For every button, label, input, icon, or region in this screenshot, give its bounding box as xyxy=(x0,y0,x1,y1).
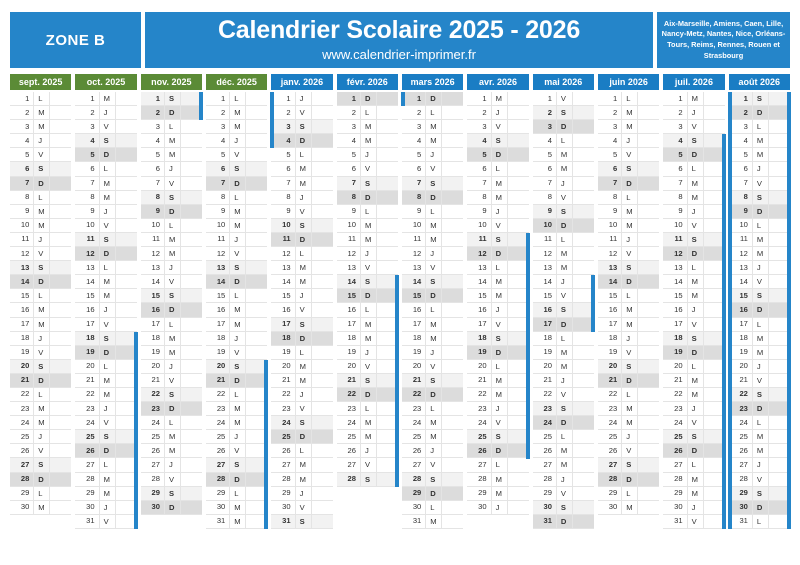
day-note-cell[interactable] xyxy=(572,162,594,175)
day-row[interactable]: 24M xyxy=(402,416,463,430)
day-row[interactable]: 24M xyxy=(337,416,398,430)
day-row[interactable]: 13M xyxy=(271,261,332,275)
day-row[interactable]: 21V xyxy=(141,374,202,388)
day-row[interactable]: 16J xyxy=(663,303,724,317)
day-note-cell[interactable] xyxy=(245,205,267,218)
day-row[interactable]: 10V xyxy=(75,219,136,233)
day-row[interactable]: 15L xyxy=(598,289,659,303)
day-row[interactable]: 10D xyxy=(533,219,594,233)
day-row[interactable]: 12M xyxy=(141,247,202,261)
day-row[interactable]: 5D xyxy=(467,148,528,162)
day-row[interactable]: 24M xyxy=(206,416,267,430)
day-note-cell[interactable] xyxy=(441,92,463,105)
day-note-cell[interactable] xyxy=(311,444,333,457)
day-row[interactable]: 14M xyxy=(663,275,724,289)
day-row[interactable]: 25D xyxy=(271,430,332,444)
day-row[interactable]: 11S xyxy=(663,233,724,247)
day-note-cell[interactable] xyxy=(441,247,463,260)
day-row[interactable]: 28S xyxy=(402,473,463,487)
day-row[interactable]: 31S xyxy=(271,515,332,529)
day-row[interactable]: 4M xyxy=(141,134,202,148)
day-row[interactable]: 24V xyxy=(467,416,528,430)
day-row[interactable]: 19V xyxy=(206,346,267,360)
day-note-cell[interactable] xyxy=(507,148,529,161)
day-row[interactable]: 2J xyxy=(663,106,724,120)
day-note-cell[interactable] xyxy=(507,106,529,119)
day-row[interactable]: 7M xyxy=(467,177,528,191)
day-note-cell[interactable] xyxy=(49,501,71,514)
day-row[interactable]: 3M xyxy=(402,120,463,134)
day-note-cell[interactable] xyxy=(311,233,333,246)
day-row[interactable]: 25L xyxy=(533,430,594,444)
day-note-cell[interactable] xyxy=(441,303,463,316)
day-row[interactable]: 12L xyxy=(271,247,332,261)
day-note-cell[interactable] xyxy=(572,332,594,345)
day-row[interactable]: 22J xyxy=(271,388,332,402)
day-row[interactable]: 8J xyxy=(271,191,332,205)
day-row[interactable]: 3V xyxy=(467,120,528,134)
day-row[interactable]: 2L xyxy=(402,106,463,120)
day-row[interactable]: 31V xyxy=(75,515,136,529)
day-note-cell[interactable] xyxy=(637,289,659,302)
day-row[interactable]: 2M xyxy=(206,106,267,120)
day-row[interactable]: 6L xyxy=(75,162,136,176)
day-row[interactable]: 22M xyxy=(75,388,136,402)
day-row[interactable]: 1S xyxy=(141,92,202,106)
day-row[interactable]: 26D xyxy=(663,444,724,458)
day-row[interactable]: 24V xyxy=(663,416,724,430)
day-row[interactable]: 14V xyxy=(729,275,790,289)
day-note-cell[interactable] xyxy=(637,374,659,387)
month-header[interactable]: avr. 2026 xyxy=(467,74,528,90)
day-note-cell[interactable] xyxy=(637,92,659,105)
day-row[interactable]: 3D xyxy=(533,120,594,134)
day-row[interactable]: 30M xyxy=(10,501,71,515)
month-header[interactable]: août 2026 xyxy=(729,74,790,90)
day-note-cell[interactable] xyxy=(49,416,71,429)
day-row[interactable]: 28J xyxy=(533,473,594,487)
day-note-cell[interactable] xyxy=(376,191,398,204)
day-row[interactable]: 7V xyxy=(729,177,790,191)
day-note-cell[interactable] xyxy=(115,247,137,260)
day-row[interactable]: 30J xyxy=(75,501,136,515)
day-note-cell[interactable] xyxy=(507,120,529,133)
day-row[interactable]: 23J xyxy=(467,402,528,416)
day-row[interactable]: 24L xyxy=(141,416,202,430)
day-note-cell[interactable] xyxy=(572,487,594,500)
day-row[interactable]: 17M xyxy=(10,318,71,332)
day-note-cell[interactable] xyxy=(49,303,71,316)
month-header[interactable]: déc. 2025 xyxy=(206,74,267,90)
day-row[interactable]: 25M xyxy=(337,430,398,444)
month-header[interactable]: juin 2026 xyxy=(598,74,659,90)
day-note-cell[interactable] xyxy=(507,162,529,175)
day-note-cell[interactable] xyxy=(180,444,202,457)
day-row[interactable]: 5M xyxy=(729,148,790,162)
day-row[interactable]: 14D xyxy=(598,275,659,289)
day-note-cell[interactable] xyxy=(441,360,463,373)
day-row[interactable]: 18S xyxy=(663,332,724,346)
day-row[interactable]: 25S xyxy=(75,430,136,444)
day-row[interactable]: 11S xyxy=(467,233,528,247)
day-note-cell[interactable] xyxy=(311,205,333,218)
day-row[interactable]: 26V xyxy=(10,444,71,458)
day-note-cell[interactable] xyxy=(49,289,71,302)
day-row[interactable]: 14D xyxy=(10,275,71,289)
day-row[interactable]: 31M xyxy=(402,515,463,529)
day-note-cell[interactable] xyxy=(245,303,267,316)
day-note-cell[interactable] xyxy=(572,346,594,359)
day-row[interactable]: 11M xyxy=(141,233,202,247)
day-note-cell[interactable] xyxy=(180,473,202,486)
day-row[interactable]: 22M xyxy=(663,388,724,402)
day-note-cell[interactable] xyxy=(115,318,137,331)
day-row[interactable]: 16S xyxy=(533,303,594,317)
day-row[interactable]: 9M xyxy=(598,205,659,219)
day-row[interactable]: 4M xyxy=(402,134,463,148)
day-note-cell[interactable] xyxy=(49,120,71,133)
day-note-cell[interactable] xyxy=(49,106,71,119)
day-note-cell[interactable] xyxy=(376,92,398,105)
day-row[interactable]: 11M xyxy=(337,233,398,247)
day-note-cell[interactable] xyxy=(311,332,333,345)
day-note-cell[interactable] xyxy=(180,289,202,302)
day-row[interactable]: 4L xyxy=(533,134,594,148)
day-row[interactable]: 5D xyxy=(75,148,136,162)
day-row[interactable]: 16D xyxy=(729,303,790,317)
day-row[interactable]: 20V xyxy=(402,360,463,374)
day-note-cell[interactable] xyxy=(441,205,463,218)
day-note-cell[interactable] xyxy=(441,261,463,274)
day-row[interactable]: 13V xyxy=(337,261,398,275)
day-note-cell[interactable] xyxy=(49,458,71,471)
day-note-cell[interactable] xyxy=(572,360,594,373)
day-row[interactable]: 13J xyxy=(729,261,790,275)
day-row[interactable]: 1L xyxy=(206,92,267,106)
day-note-cell[interactable] xyxy=(115,162,137,175)
day-note-cell[interactable] xyxy=(49,92,71,105)
day-row[interactable]: 25J xyxy=(10,430,71,444)
day-row[interactable]: 1D xyxy=(402,92,463,106)
day-row[interactable]: 4M xyxy=(337,134,398,148)
day-row[interactable]: 30J xyxy=(663,501,724,515)
month-header[interactable]: mai 2026 xyxy=(533,74,594,90)
day-row[interactable]: 22L xyxy=(10,388,71,402)
day-note-cell[interactable] xyxy=(572,515,594,528)
day-row[interactable]: 17M xyxy=(206,318,267,332)
day-row[interactable]: 29L xyxy=(10,487,71,501)
day-note-cell[interactable] xyxy=(49,473,71,486)
day-row[interactable]: 11J xyxy=(206,233,267,247)
day-row[interactable]: 28M xyxy=(467,473,528,487)
day-row[interactable]: 8L xyxy=(206,191,267,205)
day-note-cell[interactable] xyxy=(311,289,333,302)
day-row[interactable]: 4J xyxy=(10,134,71,148)
day-row[interactable]: 13S xyxy=(598,261,659,275)
day-row[interactable]: 9L xyxy=(402,205,463,219)
day-row[interactable]: 10L xyxy=(141,219,202,233)
day-row[interactable]: 14D xyxy=(206,275,267,289)
day-note-cell[interactable] xyxy=(441,346,463,359)
day-note-cell[interactable] xyxy=(637,177,659,190)
day-note-cell[interactable] xyxy=(245,177,267,190)
day-row[interactable]: 16M xyxy=(598,303,659,317)
day-row[interactable]: 24D xyxy=(533,416,594,430)
day-note-cell[interactable] xyxy=(49,247,71,260)
day-note-cell[interactable] xyxy=(180,205,202,218)
day-note-cell[interactable] xyxy=(245,275,267,288)
day-note-cell[interactable] xyxy=(376,261,398,274)
day-row[interactable]: 21M xyxy=(467,374,528,388)
day-row[interactable]: 24L xyxy=(729,416,790,430)
day-row[interactable]: 29M xyxy=(663,487,724,501)
day-row[interactable]: 11S xyxy=(75,233,136,247)
day-row[interactable]: 8M xyxy=(467,191,528,205)
day-note-cell[interactable] xyxy=(637,473,659,486)
day-note-cell[interactable] xyxy=(49,430,71,443)
day-row[interactable]: 19D xyxy=(467,346,528,360)
month-header[interactable]: sept. 2025 xyxy=(10,74,71,90)
day-row[interactable]: 6S xyxy=(10,162,71,176)
day-note-cell[interactable] xyxy=(245,261,267,274)
day-row[interactable]: 7M xyxy=(663,177,724,191)
day-note-cell[interactable] xyxy=(441,191,463,204)
day-note-cell[interactable] xyxy=(637,402,659,415)
day-row[interactable]: 22M xyxy=(467,388,528,402)
day-row[interactable]: 21S xyxy=(402,374,463,388)
day-row[interactable]: 20V xyxy=(337,360,398,374)
day-note-cell[interactable] xyxy=(441,402,463,415)
day-row[interactable]: 1S xyxy=(729,92,790,106)
day-row[interactable]: 16J xyxy=(75,303,136,317)
day-row[interactable]: 3M xyxy=(10,120,71,134)
day-row[interactable]: 14M xyxy=(467,275,528,289)
day-row[interactable]: 7S xyxy=(402,177,463,191)
day-row[interactable]: 29S xyxy=(141,487,202,501)
day-note-cell[interactable] xyxy=(311,134,333,147)
day-row[interactable]: 12D xyxy=(467,247,528,261)
day-row[interactable]: 23V xyxy=(271,402,332,416)
day-row[interactable]: 27L xyxy=(663,458,724,472)
day-row[interactable]: 15L xyxy=(10,289,71,303)
day-note-cell[interactable] xyxy=(115,92,137,105)
day-row[interactable]: 15M xyxy=(467,289,528,303)
day-row[interactable]: 14V xyxy=(141,275,202,289)
day-row[interactable]: 22D xyxy=(402,388,463,402)
day-row[interactable]: 11M xyxy=(402,233,463,247)
day-note-cell[interactable] xyxy=(311,162,333,175)
day-row[interactable]: 29D xyxy=(402,487,463,501)
day-row[interactable]: 12V xyxy=(598,247,659,261)
day-row[interactable]: 13S xyxy=(206,261,267,275)
day-note-cell[interactable] xyxy=(637,501,659,514)
day-row[interactable]: 1M xyxy=(663,92,724,106)
day-row[interactable]: 25M xyxy=(402,430,463,444)
day-row[interactable]: 30D xyxy=(141,501,202,515)
day-row[interactable]: 18M xyxy=(402,332,463,346)
day-row[interactable]: 3L xyxy=(729,120,790,134)
month-header[interactable]: oct. 2025 xyxy=(75,74,136,90)
day-row[interactable]: 22S xyxy=(729,388,790,402)
day-row[interactable]: 30V xyxy=(271,501,332,515)
day-row[interactable]: 7D xyxy=(10,177,71,191)
day-row[interactable]: 22V xyxy=(533,388,594,402)
day-row[interactable]: 2J xyxy=(75,106,136,120)
day-note-cell[interactable] xyxy=(49,360,71,373)
day-row[interactable]: 10M xyxy=(402,219,463,233)
day-note-cell[interactable] xyxy=(572,233,594,246)
day-row[interactable]: 20M xyxy=(271,360,332,374)
day-row[interactable]: 17M xyxy=(598,318,659,332)
day-note-cell[interactable] xyxy=(245,92,267,105)
day-row[interactable]: 12J xyxy=(337,247,398,261)
day-note-cell[interactable] xyxy=(115,289,137,302)
day-note-cell[interactable] xyxy=(637,134,659,147)
day-note-cell[interactable] xyxy=(115,303,137,316)
day-row[interactable]: 1L xyxy=(598,92,659,106)
day-row[interactable]: 30M xyxy=(206,501,267,515)
day-note-cell[interactable] xyxy=(49,134,71,147)
day-row[interactable]: 13L xyxy=(467,261,528,275)
day-row[interactable]: 22L xyxy=(206,388,267,402)
day-row[interactable]: 12V xyxy=(10,247,71,261)
day-row[interactable]: 3V xyxy=(663,120,724,134)
day-row[interactable]: 3L xyxy=(141,120,202,134)
day-note-cell[interactable] xyxy=(245,106,267,119)
day-note-cell[interactable] xyxy=(441,444,463,457)
day-row[interactable]: 15S xyxy=(141,289,202,303)
day-row[interactable]: 23L xyxy=(337,402,398,416)
day-row[interactable]: 26D xyxy=(75,444,136,458)
day-note-cell[interactable] xyxy=(115,191,137,204)
day-row[interactable]: 18S xyxy=(75,332,136,346)
day-note-cell[interactable] xyxy=(441,515,463,528)
day-row[interactable]: 8M xyxy=(663,191,724,205)
day-note-cell[interactable] xyxy=(311,402,333,415)
day-row[interactable]: 21D xyxy=(598,374,659,388)
day-note-cell[interactable] xyxy=(572,444,594,457)
day-note-cell[interactable] xyxy=(507,473,529,486)
day-row[interactable]: 9J xyxy=(663,205,724,219)
day-row[interactable]: 12M xyxy=(729,247,790,261)
day-row[interactable]: 17V xyxy=(467,318,528,332)
day-row[interactable]: 3M xyxy=(337,120,398,134)
day-row[interactable]: 1M xyxy=(75,92,136,106)
day-note-cell[interactable] xyxy=(180,275,202,288)
day-row[interactable]: 15D xyxy=(337,289,398,303)
day-row[interactable]: 9J xyxy=(75,205,136,219)
day-note-cell[interactable] xyxy=(245,346,267,359)
day-note-cell[interactable] xyxy=(49,191,71,204)
day-row[interactable]: 29M xyxy=(467,487,528,501)
day-note-cell[interactable] xyxy=(245,332,267,345)
day-note-cell[interactable] xyxy=(49,162,71,175)
day-row[interactable]: 25J xyxy=(598,430,659,444)
day-note-cell[interactable] xyxy=(507,191,529,204)
day-row[interactable]: 6J xyxy=(141,162,202,176)
day-note-cell[interactable] xyxy=(311,318,333,331)
day-row[interactable]: 2V xyxy=(271,106,332,120)
day-row[interactable]: 18L xyxy=(533,332,594,346)
day-note-cell[interactable] xyxy=(311,247,333,260)
day-row[interactable]: 28V xyxy=(729,473,790,487)
day-row[interactable]: 24M xyxy=(598,416,659,430)
day-note-cell[interactable] xyxy=(311,374,333,387)
day-row[interactable]: 20J xyxy=(729,360,790,374)
day-row[interactable]: 19J xyxy=(402,346,463,360)
day-row[interactable]: 23M xyxy=(206,402,267,416)
day-note-cell[interactable] xyxy=(507,134,529,147)
day-note-cell[interactable] xyxy=(572,261,594,274)
day-row[interactable]: 12D xyxy=(75,247,136,261)
day-note-cell[interactable] xyxy=(115,205,137,218)
day-row[interactable]: 20M xyxy=(533,360,594,374)
day-row[interactable]: 2M xyxy=(598,106,659,120)
day-row[interactable]: 23L xyxy=(402,402,463,416)
day-note-cell[interactable] xyxy=(637,162,659,175)
day-row[interactable]: 8D xyxy=(337,191,398,205)
day-row[interactable]: 30J xyxy=(467,501,528,515)
day-note-cell[interactable] xyxy=(311,275,333,288)
day-note-cell[interactable] xyxy=(49,346,71,359)
day-note-cell[interactable] xyxy=(507,177,529,190)
day-row[interactable]: 17L xyxy=(141,318,202,332)
day-note-cell[interactable] xyxy=(180,177,202,190)
day-note-cell[interactable] xyxy=(180,148,202,161)
day-note-cell[interactable] xyxy=(637,444,659,457)
day-note-cell[interactable] xyxy=(115,233,137,246)
day-row[interactable]: 26L xyxy=(271,444,332,458)
day-note-cell[interactable] xyxy=(572,458,594,471)
day-row[interactable]: 19D xyxy=(663,346,724,360)
day-row[interactable]: 10S xyxy=(271,219,332,233)
day-note-cell[interactable] xyxy=(49,332,71,345)
day-note-cell[interactable] xyxy=(180,346,202,359)
day-note-cell[interactable] xyxy=(245,148,267,161)
day-row[interactable]: 11D xyxy=(271,233,332,247)
day-row[interactable]: 5V xyxy=(598,148,659,162)
day-row[interactable]: 26J xyxy=(402,444,463,458)
day-note-cell[interactable] xyxy=(180,261,202,274)
day-row[interactable]: 29L xyxy=(598,487,659,501)
day-row[interactable]: 13M xyxy=(533,261,594,275)
day-note-cell[interactable] xyxy=(637,346,659,359)
day-note-cell[interactable] xyxy=(572,92,594,105)
day-row[interactable]: 8S xyxy=(729,191,790,205)
day-row[interactable]: 18D xyxy=(271,332,332,346)
day-note-cell[interactable] xyxy=(572,430,594,443)
day-row[interactable]: 16M xyxy=(10,303,71,317)
day-note-cell[interactable] xyxy=(507,205,529,218)
day-note-cell[interactable] xyxy=(441,134,463,147)
day-row[interactable]: 7J xyxy=(533,177,594,191)
day-note-cell[interactable] xyxy=(49,487,71,500)
day-note-cell[interactable] xyxy=(245,134,267,147)
month-header[interactable]: juil. 2026 xyxy=(663,74,724,90)
day-note-cell[interactable] xyxy=(637,120,659,133)
day-row[interactable]: 21D xyxy=(206,374,267,388)
day-row[interactable]: 4J xyxy=(598,134,659,148)
day-note-cell[interactable] xyxy=(49,374,71,387)
day-row[interactable]: 24M xyxy=(10,416,71,430)
day-note-cell[interactable] xyxy=(115,219,137,232)
day-row[interactable]: 15D xyxy=(402,289,463,303)
day-note-cell[interactable] xyxy=(507,487,529,500)
day-row[interactable]: 19V xyxy=(10,346,71,360)
day-row[interactable]: 3S xyxy=(271,120,332,134)
day-row[interactable]: 26M xyxy=(141,444,202,458)
day-note-cell[interactable] xyxy=(441,289,463,302)
